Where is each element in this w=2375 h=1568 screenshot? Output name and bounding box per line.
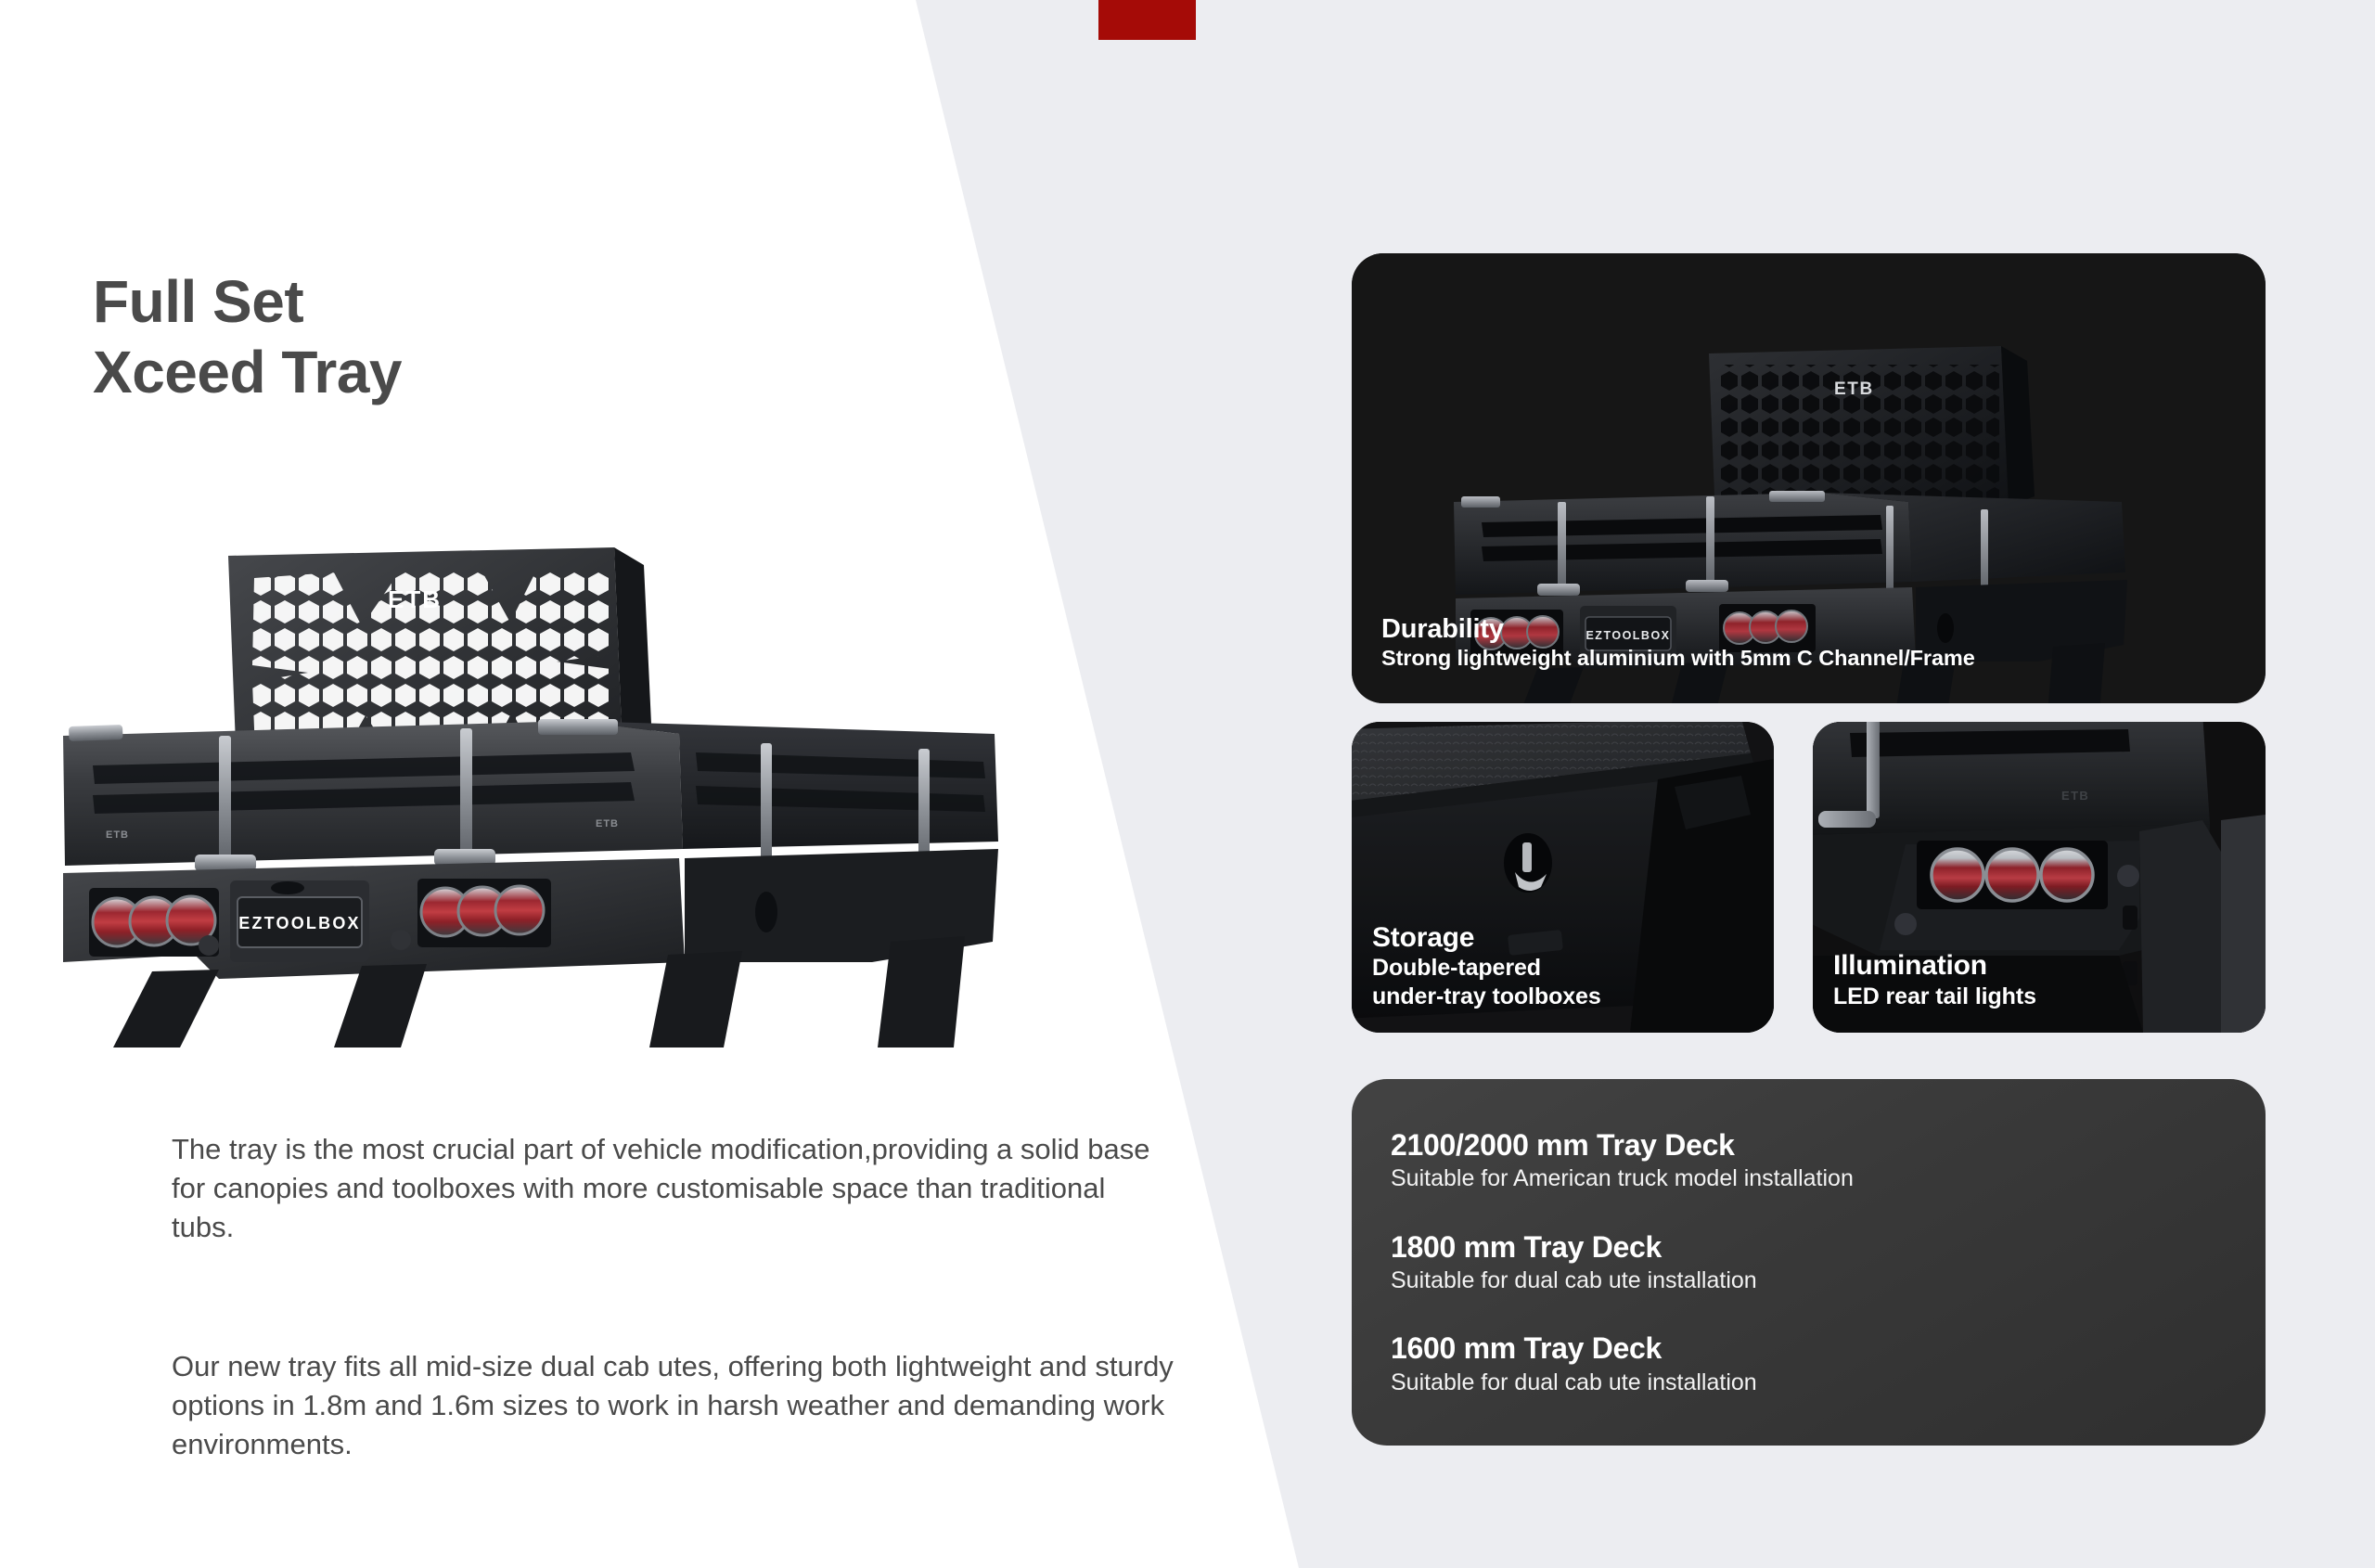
spec-heading: 1600 mm Tray Deck <box>1391 1330 2238 1366</box>
card-durability-subtitle: Strong lightweight aluminium with 5mm C … <box>1381 645 2266 672</box>
card-durability-title: Durability <box>1381 614 2266 645</box>
spec-subtext: Suitable for dual cab ute installation <box>1391 1266 2238 1295</box>
red-accent-tab <box>1098 0 1196 40</box>
svg-text:ETB: ETB <box>1834 379 1874 399</box>
card-tray-deck-specs: 2100/2000 mm Tray Deck Suitable for Amer… <box>1352 1079 2266 1446</box>
card-illumination[interactable]: ETB <box>1813 722 2266 1033</box>
card-storage-title: Storage <box>1372 922 1774 955</box>
card-illumination-caption: Illumination LED rear tail lights <box>1813 950 2266 1033</box>
tray-deck-spec-list: 2100/2000 mm Tray Deck Suitable for Amer… <box>1391 1127 2238 1397</box>
spec-row: 1800 mm Tray Deck Suitable for dual cab … <box>1391 1229 2238 1296</box>
right-column: ETB <box>0 0 2375 1568</box>
svg-text:ETB: ETB <box>2061 789 2089 803</box>
card-durability-caption: Durability Strong lightweight aluminium … <box>1352 614 2266 703</box>
spec-heading: 1800 mm Tray Deck <box>1391 1229 2238 1265</box>
spec-subtext: Suitable for American truck model instal… <box>1391 1164 2238 1193</box>
card-durability[interactable]: ETB <box>1352 253 2266 703</box>
card-illumination-title: Illumination <box>1833 950 2266 983</box>
spec-row: 2100/2000 mm Tray Deck Suitable for Amer… <box>1391 1127 2238 1194</box>
spec-heading: 2100/2000 mm Tray Deck <box>1391 1127 2238 1163</box>
slide-root: Full Set Xceed Tray <box>0 0 2375 1568</box>
spec-subtext: Suitable for dual cab ute installation <box>1391 1369 2238 1397</box>
card-illumination-subtitle: LED rear tail lights <box>1833 983 2266 1011</box>
card-storage[interactable]: Storage Double-tapered under-tray toolbo… <box>1352 722 1774 1033</box>
spec-row: 1600 mm Tray Deck Suitable for dual cab … <box>1391 1330 2238 1397</box>
card-storage-subtitle: Double-tapered under-tray toolboxes <box>1372 954 1774 1010</box>
card-storage-caption: Storage Double-tapered under-tray toolbo… <box>1352 922 1774 1034</box>
led-tail-lights <box>1932 849 2093 901</box>
